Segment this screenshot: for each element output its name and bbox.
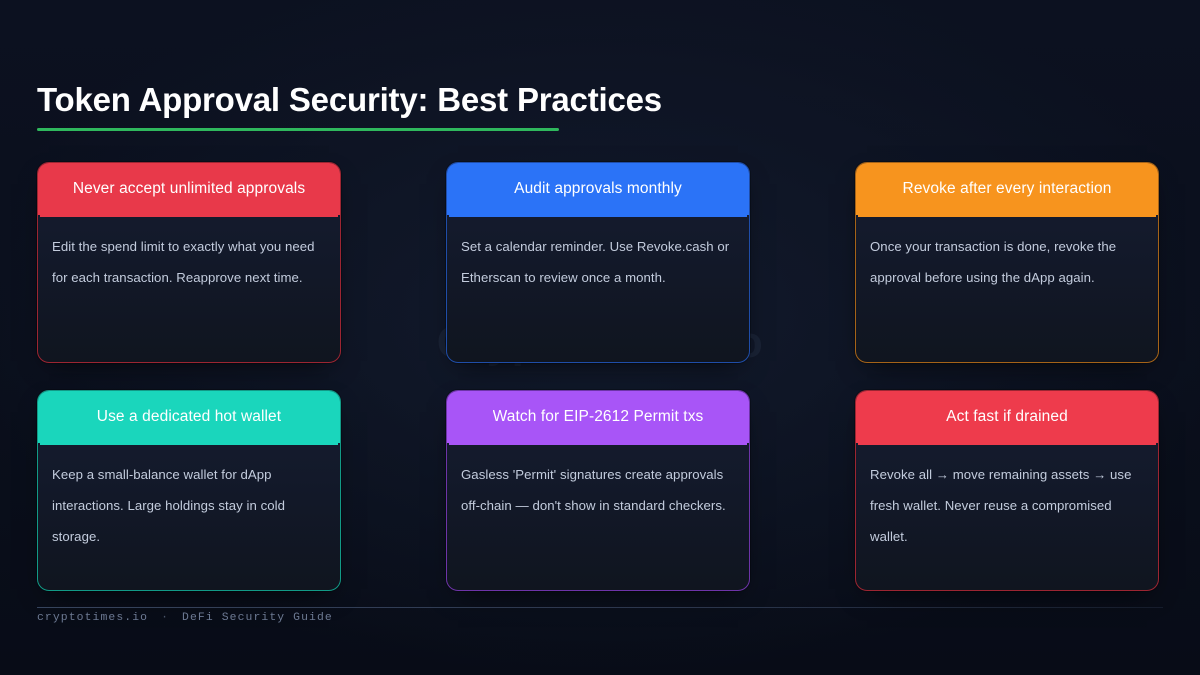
page-title: Token Approval Security: Best Practices: [37, 82, 662, 119]
card-body: Once your transaction is done, revoke th…: [856, 217, 1158, 362]
title-underline-rule: [37, 128, 559, 131]
card-body: Edit the spend limit to exactly what you…: [38, 217, 340, 362]
practice-card[interactable]: Audit approvals monthly Set a calendar r…: [446, 162, 750, 363]
card-body: Revoke all → move remaining assets → use…: [856, 445, 1158, 590]
card-body: Gasless 'Permit' signatures create appro…: [447, 445, 749, 590]
best-practice-card-grid: Never accept unlimited approvals Edit th…: [37, 162, 1163, 591]
footer-separator: ·: [161, 612, 169, 624]
card-body: Set a calendar reminder. Use Revoke.cash…: [447, 217, 749, 362]
card-heading: Watch for EIP-2612 Permit txs: [493, 408, 704, 427]
card-heading: Act fast if drained: [946, 408, 1068, 427]
slide-canvas: CryptoTimes.io Token Approval Security: …: [0, 0, 1200, 675]
practice-card[interactable]: Revoke after every interaction Once your…: [855, 162, 1159, 363]
footer-divider: [37, 607, 1163, 608]
practice-card[interactable]: Watch for EIP-2612 Permit txs Gasless 'P…: [446, 390, 750, 591]
practice-card[interactable]: Use a dedicated hot wallet Keep a small-…: [37, 390, 341, 591]
card-body: Keep a small-balance wallet for dApp int…: [38, 445, 340, 590]
card-header: Use a dedicated hot wallet: [38, 391, 340, 443]
card-body-text: Gasless 'Permit' signatures create appro…: [461, 459, 735, 521]
practice-card[interactable]: Never accept unlimited approvals Edit th…: [37, 162, 341, 363]
card-header: Revoke after every interaction: [856, 163, 1158, 215]
practice-card[interactable]: Act fast if drained Revoke all → move re…: [855, 390, 1159, 591]
footer-site-label: cryptotimes.io: [37, 612, 148, 624]
card-header: Watch for EIP-2612 Permit txs: [447, 391, 749, 443]
card-body-text: Once your transaction is done, revoke th…: [870, 231, 1144, 293]
card-body-text: Edit the spend limit to exactly what you…: [52, 231, 326, 293]
footer: cryptotimes.io · DeFi Security Guide: [37, 612, 333, 624]
card-header: Act fast if drained: [856, 391, 1158, 443]
card-header: Never accept unlimited approvals: [38, 163, 340, 215]
card-heading: Revoke after every interaction: [903, 180, 1112, 199]
footer-guide-label: DeFi Security Guide: [182, 612, 333, 624]
card-body-text: Keep a small-balance wallet for dApp int…: [52, 459, 326, 552]
card-body-text: Set a calendar reminder. Use Revoke.cash…: [461, 231, 735, 293]
card-body-text: Revoke all → move remaining assets → use…: [870, 459, 1144, 552]
card-heading: Audit approvals monthly: [514, 180, 682, 199]
card-heading: Use a dedicated hot wallet: [97, 408, 281, 427]
card-header: Audit approvals monthly: [447, 163, 749, 215]
title-block: Token Approval Security: Best Practices: [37, 82, 662, 131]
card-heading: Never accept unlimited approvals: [73, 180, 305, 199]
